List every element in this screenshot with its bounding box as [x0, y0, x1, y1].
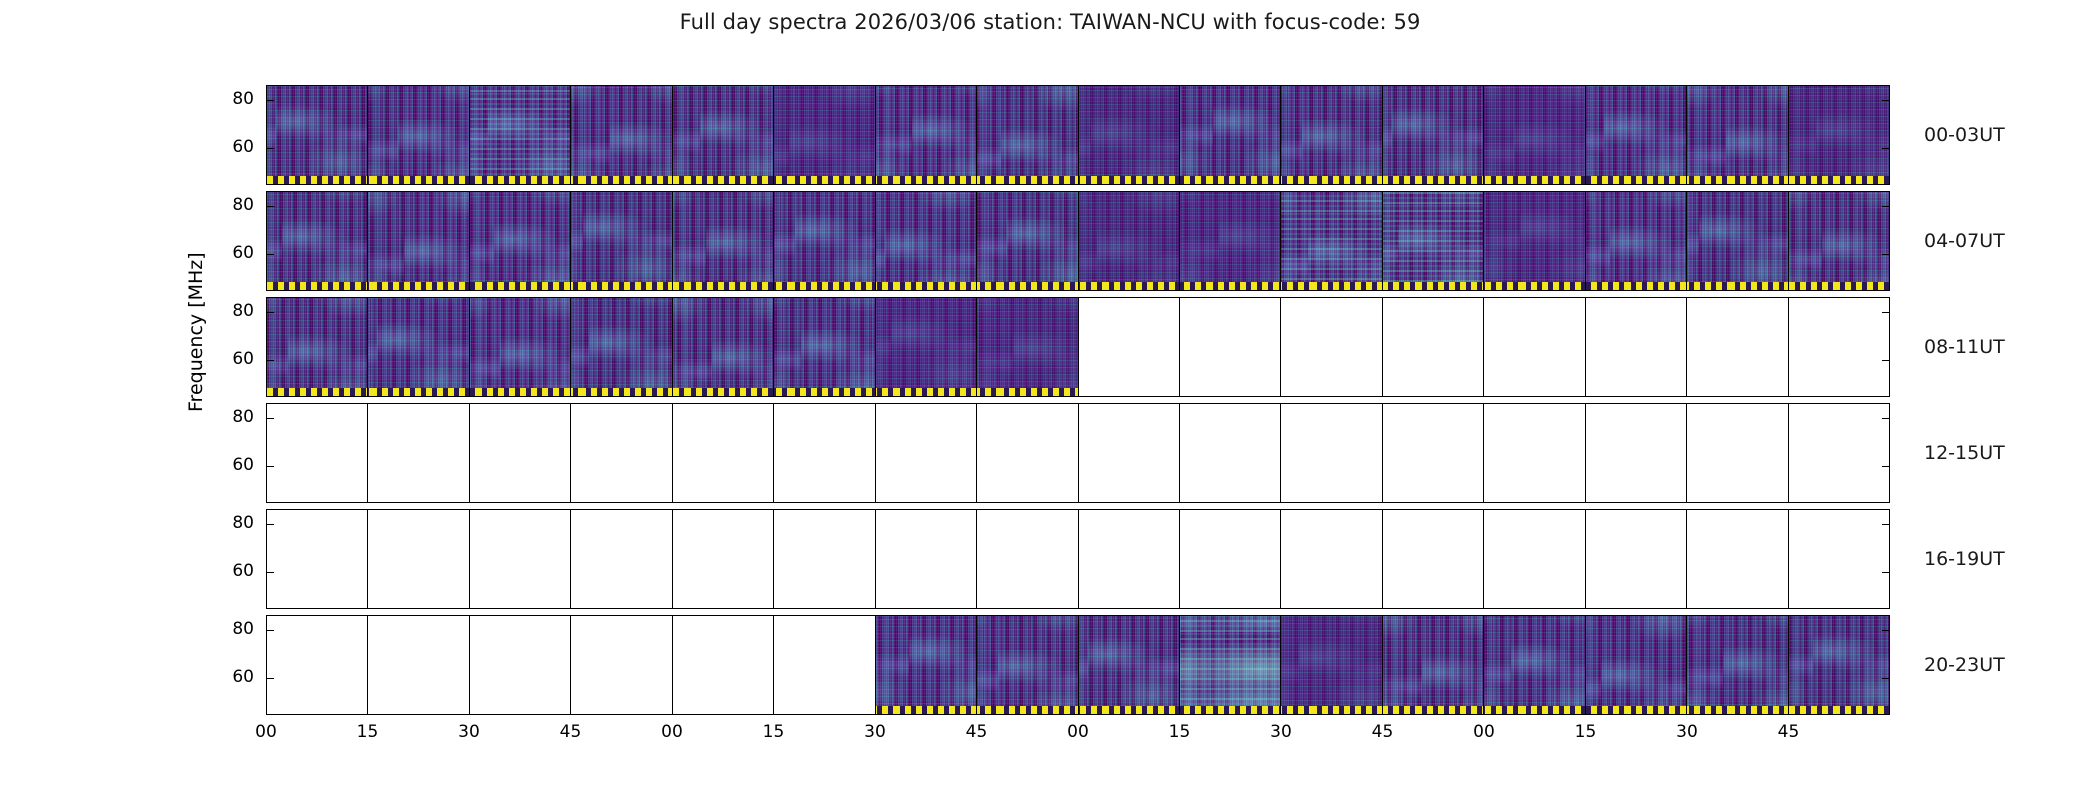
spectrogram-image: [977, 298, 1077, 396]
texture-layer: [1281, 192, 1381, 290]
time-coverage-strip: [673, 176, 773, 184]
spectrogram-panel[interactable]: [1180, 404, 1281, 502]
texture-layer: [1586, 86, 1686, 184]
y-axis-tick: [267, 678, 274, 679]
spectrogram-image: [1079, 616, 1179, 714]
y-axis-tick: [1882, 524, 1889, 525]
time-coverage-strip: [571, 388, 671, 396]
spectrogram-panel[interactable]: [673, 510, 774, 608]
x-axis-tick-label: 45: [966, 722, 988, 742]
spectrogram-panel[interactable]: [1281, 192, 1382, 290]
texture-layer: [1687, 192, 1787, 290]
time-coverage-strip: [1383, 282, 1483, 290]
time-coverage-strip: [1281, 282, 1381, 290]
texture-layer: [774, 298, 874, 396]
texture-layer: [774, 192, 874, 290]
time-coverage-strip: [267, 282, 367, 290]
texture-layer: [673, 192, 773, 290]
time-coverage-strip: [876, 388, 976, 396]
texture-layer: [1281, 86, 1381, 184]
texture-layer: [267, 86, 367, 184]
spectrogram-panel[interactable]: [1180, 510, 1281, 608]
time-coverage-strip: [1586, 176, 1686, 184]
spectrogram-panel[interactable]: [1586, 298, 1687, 396]
spectrogram-panel[interactable]: [977, 192, 1078, 290]
texture-layer: [1281, 616, 1381, 714]
spectrogram-panel[interactable]: [368, 86, 469, 184]
y-axis-tick: [267, 206, 274, 207]
spectrogram-panel[interactable]: [1383, 298, 1484, 396]
spectrogram-panel[interactable]: [1789, 298, 1889, 396]
spectrogram-image: [267, 86, 367, 184]
time-coverage-strip: [1484, 282, 1584, 290]
spectrogram-panel[interactable]: [470, 192, 571, 290]
x-axis-tick-labels: 00153045001530450015304500153045: [266, 722, 1890, 746]
time-coverage-strip: [876, 282, 976, 290]
spectrogram-panel[interactable]: [1687, 404, 1788, 502]
spectrogram-panel[interactable]: [1687, 192, 1788, 290]
x-axis-tick-label: 30: [1676, 722, 1698, 742]
spectrogram-panel[interactable]: [876, 510, 977, 608]
spectrogram-image: [1180, 86, 1280, 184]
time-coverage-strip: [1180, 282, 1280, 290]
spectrogram-panel[interactable]: [368, 616, 469, 714]
x-axis-tick-label: 15: [1575, 722, 1597, 742]
spectrogram-panel[interactable]: [1687, 298, 1788, 396]
time-coverage-strip: [1484, 176, 1584, 184]
spectrogram-panel[interactable]: [1484, 298, 1585, 396]
spectrogram-image: [977, 86, 1077, 184]
texture-layer: [1687, 616, 1787, 714]
spectrogram-panel[interactable]: [1383, 510, 1484, 608]
spectrogram-panel[interactable]: [368, 404, 469, 502]
texture-layer: [1383, 192, 1483, 290]
spectrogram-panel[interactable]: [1383, 616, 1484, 714]
spectrogram-image: [876, 86, 976, 184]
y-axis-tick-label: 80: [232, 619, 254, 639]
spectrogram-panel[interactable]: [673, 86, 774, 184]
y-axis-label: Frequency [MHz]: [185, 388, 207, 412]
spectrogram-panel[interactable]: [470, 404, 571, 502]
spectrogram-panel[interactable]: [1180, 192, 1281, 290]
y-axis-tick: [267, 466, 274, 467]
texture-layer: [876, 298, 976, 396]
plot-area: [266, 85, 1890, 715]
time-coverage-strip: [1484, 706, 1584, 714]
spectrogram-image: [1079, 192, 1179, 290]
y-axis-tick: [1882, 630, 1889, 631]
spectrogram-panel[interactable]: [1586, 192, 1687, 290]
row-label-00-03ut: 00-03UT: [1924, 124, 2005, 146]
spectrogram-image: [368, 192, 468, 290]
y-axis-tick: [267, 254, 274, 255]
texture-layer: [470, 298, 570, 396]
spectrogram-panel[interactable]: [267, 298, 368, 396]
spectrogram-panel[interactable]: [774, 404, 875, 502]
y-axis-tick: [1882, 466, 1889, 467]
row-label-08-11ut: 08-11UT: [1924, 336, 2005, 358]
spectrogram-image: [1484, 86, 1584, 184]
spectrogram-panel[interactable]: [1079, 298, 1180, 396]
spectrogram-panel[interactable]: [1484, 616, 1585, 714]
spectrogram-panel[interactable]: [1586, 404, 1687, 502]
time-coverage-strip: [1281, 706, 1381, 714]
spectrogram-image: [1586, 86, 1686, 184]
time-coverage-strip: [1789, 282, 1889, 290]
spectrogram-panel[interactable]: [673, 298, 774, 396]
spectrogram-panel[interactable]: [977, 86, 1078, 184]
spectrogram-panel[interactable]: [1383, 192, 1484, 290]
spectrogram-panel[interactable]: [1180, 298, 1281, 396]
spectrogram-panel[interactable]: [1789, 192, 1889, 290]
spectrogram-image: [1383, 616, 1483, 714]
time-coverage-strip: [673, 282, 773, 290]
spectrogram-panel[interactable]: [1079, 510, 1180, 608]
time-coverage-strip: [368, 388, 468, 396]
spectrogram-panel[interactable]: [470, 616, 571, 714]
spectrogram-image: [1687, 616, 1787, 714]
spectrogram-panel[interactable]: [1687, 616, 1788, 714]
texture-layer: [977, 192, 1077, 290]
time-coverage-strip: [1586, 282, 1686, 290]
spectrogram-row-12-15ut[interactable]: [266, 403, 1890, 503]
spectrogram-image: [1586, 616, 1686, 714]
spectrogram-image: [876, 298, 976, 396]
spectrogram-panel[interactable]: [876, 192, 977, 290]
time-coverage-strip: [571, 176, 671, 184]
y-axis-tick: [267, 418, 274, 419]
spectrogram-panel[interactable]: [571, 510, 672, 608]
spectrogram-panel[interactable]: [774, 86, 875, 184]
texture-layer: [774, 86, 874, 184]
spectrogram-panel[interactable]: [267, 86, 368, 184]
panel-strip: [267, 86, 1889, 184]
texture-layer: [1180, 192, 1280, 290]
y-axis-tick-label: 80: [232, 513, 254, 533]
spectrogram-image: [1079, 86, 1179, 184]
y-axis-tick: [267, 100, 274, 101]
panel-strip: [267, 510, 1889, 608]
time-coverage-strip: [1687, 706, 1787, 714]
spectrogram-image: [876, 616, 976, 714]
texture-layer: [1789, 192, 1889, 290]
spectrogram-row-04-07ut[interactable]: [266, 191, 1890, 291]
spectrogram-panel[interactable]: [368, 510, 469, 608]
spectrogram-image: [1180, 192, 1280, 290]
spectrogram-panel[interactable]: [774, 298, 875, 396]
spectrogram-panel[interactable]: [977, 510, 1078, 608]
spectrogram-image: [1789, 616, 1889, 714]
texture-layer: [368, 192, 468, 290]
spectrogram-panel[interactable]: [368, 298, 469, 396]
texture-layer: [1586, 616, 1686, 714]
texture-layer: [1383, 616, 1483, 714]
texture-layer: [1484, 192, 1584, 290]
panel-strip: [267, 298, 1889, 396]
y-axis-tick-label: 60: [232, 561, 254, 581]
spectrogram-image: [267, 192, 367, 290]
time-coverage-strip: [1383, 706, 1483, 714]
spectrogram-row-00-03ut[interactable]: [266, 85, 1890, 185]
spectrogram-panel[interactable]: [571, 616, 672, 714]
spectrogram-panel[interactable]: [876, 86, 977, 184]
spectrogram-image: [1281, 192, 1381, 290]
spectrogram-panel[interactable]: [267, 404, 368, 502]
time-coverage-strip: [1180, 176, 1280, 184]
spectrogram-image: [1687, 192, 1787, 290]
spectrogram-panel[interactable]: [1687, 510, 1788, 608]
spectrogram-panel[interactable]: [1484, 86, 1585, 184]
spectrogram-panel[interactable]: [1789, 616, 1889, 714]
texture-layer: [876, 86, 976, 184]
time-coverage-strip: [977, 388, 1077, 396]
y-axis-tick: [1882, 418, 1889, 419]
spectrogram-image: [673, 86, 773, 184]
texture-layer: [571, 192, 671, 290]
spectrogram-panel[interactable]: [1079, 616, 1180, 714]
x-axis-tick-label: 45: [1372, 722, 1394, 742]
time-coverage-strip: [876, 706, 976, 714]
spectrogram-image: [368, 86, 468, 184]
spectrogram-image: [1586, 192, 1686, 290]
spectrogram-panel[interactable]: [1079, 404, 1180, 502]
x-axis-tick-label: 30: [458, 722, 480, 742]
texture-layer: [1180, 86, 1280, 184]
spectrogram-panel[interactable]: [470, 298, 571, 396]
texture-layer: [876, 192, 976, 290]
y-axis-tick: [1882, 360, 1889, 361]
time-coverage-strip: [571, 282, 671, 290]
spectrogram-row-16-19ut[interactable]: [266, 509, 1890, 609]
time-coverage-strip: [673, 388, 773, 396]
x-axis-tick-label: 00: [1067, 722, 1089, 742]
spectrogram-panel[interactable]: [673, 192, 774, 290]
spectrogram-image: [774, 192, 874, 290]
texture-layer: [571, 86, 671, 184]
time-coverage-strip: [1687, 176, 1787, 184]
spectrogram-panel[interactable]: [1281, 404, 1382, 502]
spectrogram-image: [571, 298, 671, 396]
spectrogram-panel[interactable]: [876, 616, 977, 714]
spectrogram-panel[interactable]: [1383, 86, 1484, 184]
x-axis-tick-label: 15: [357, 722, 379, 742]
time-coverage-strip: [368, 176, 468, 184]
spectrogram-image: [1180, 616, 1280, 714]
spectrogram-panel[interactable]: [571, 86, 672, 184]
texture-layer: [977, 298, 1077, 396]
spectrogram-panel[interactable]: [1586, 510, 1687, 608]
spectrogram-panel[interactable]: [368, 192, 469, 290]
y-axis-tick-label: 80: [232, 301, 254, 321]
spectrogram-panel[interactable]: [1383, 404, 1484, 502]
texture-layer: [977, 616, 1077, 714]
row-label-04-07ut: 04-07UT: [1924, 230, 2005, 252]
spectrogram-panel[interactable]: [774, 616, 875, 714]
time-coverage-strip: [977, 706, 1077, 714]
texture-layer: [1484, 616, 1584, 714]
spectrogram-row-08-11ut[interactable]: [266, 297, 1890, 397]
texture-layer: [368, 86, 468, 184]
panel-strip: [267, 404, 1889, 502]
spectrogram-image: [1789, 192, 1889, 290]
y-axis-tick: [1882, 572, 1889, 573]
time-coverage-strip: [1789, 176, 1889, 184]
y-axis-tick: [267, 312, 274, 313]
spectrogram-panel[interactable]: [1586, 86, 1687, 184]
time-coverage-strip: [368, 282, 468, 290]
x-axis-tick-label: 00: [661, 722, 683, 742]
y-axis-tick-label: 60: [232, 455, 254, 475]
spectrogram-panel[interactable]: [470, 510, 571, 608]
x-axis-tick-label: 00: [255, 722, 277, 742]
time-coverage-strip: [774, 176, 874, 184]
texture-layer: [876, 616, 976, 714]
y-axis-tick: [1882, 312, 1889, 313]
time-coverage-strip: [774, 282, 874, 290]
panel-strip: [267, 192, 1889, 290]
spectrogram-panel[interactable]: [1281, 510, 1382, 608]
spectrogram-panel[interactable]: [1180, 86, 1281, 184]
spectrogram-image: [470, 192, 570, 290]
time-coverage-strip: [1687, 282, 1787, 290]
spectrogram-panel[interactable]: [876, 404, 977, 502]
texture-layer: [1180, 616, 1280, 714]
spectrogram-image: [1789, 86, 1889, 184]
spectrogram-panel[interactable]: [470, 86, 571, 184]
spectrogram-image: [977, 192, 1077, 290]
y-axis-tick: [267, 572, 274, 573]
texture-layer: [1789, 616, 1889, 714]
texture-layer: [368, 298, 468, 396]
spectrogram-panel[interactable]: [1687, 86, 1788, 184]
time-coverage-strip: [977, 282, 1077, 290]
spectrogram-row-20-23ut[interactable]: [266, 615, 1890, 715]
spectrogram-image: [1383, 192, 1483, 290]
spectrogram-panel[interactable]: [774, 192, 875, 290]
spectrogram-panel[interactable]: [1484, 404, 1585, 502]
spectrogram-image: [876, 192, 976, 290]
texture-layer: [673, 86, 773, 184]
time-coverage-strip: [267, 176, 367, 184]
texture-layer: [977, 86, 1077, 184]
texture-layer: [470, 192, 570, 290]
x-axis-tick-label: 15: [763, 722, 785, 742]
spectrogram-image: [470, 298, 570, 396]
time-coverage-strip: [470, 176, 570, 184]
time-coverage-strip: [1079, 282, 1179, 290]
spectrogram-panel[interactable]: [1789, 510, 1889, 608]
y-axis-tick-label: 80: [232, 407, 254, 427]
spectrogram-image: [1484, 192, 1584, 290]
y-axis-tick: [267, 524, 274, 525]
y-axis-tick-label: 80: [232, 89, 254, 109]
spectrogram-panel[interactable]: [774, 510, 875, 608]
y-axis-tick: [267, 360, 274, 361]
texture-layer: [1079, 192, 1179, 290]
spectrogram-image: [368, 298, 468, 396]
spectrogram-panel[interactable]: [1281, 298, 1382, 396]
texture-layer: [1383, 86, 1483, 184]
spectrogram-image: [470, 86, 570, 184]
texture-layer: [1079, 86, 1179, 184]
spectrogram-image: [267, 298, 367, 396]
texture-layer: [470, 86, 570, 184]
y-axis-tick: [267, 148, 274, 149]
time-coverage-strip: [267, 388, 367, 396]
spectrogram-panel[interactable]: [673, 404, 774, 502]
texture-layer: [1079, 616, 1179, 714]
time-coverage-strip: [1586, 706, 1686, 714]
spectrogram-panel[interactable]: [977, 298, 1078, 396]
time-coverage-strip: [1383, 176, 1483, 184]
spectrogram-panel[interactable]: [571, 298, 672, 396]
spectrogram-panel[interactable]: [876, 298, 977, 396]
page-title: Full day spectra 2026/03/06 station: TAI…: [0, 10, 2100, 34]
texture-layer: [1586, 192, 1686, 290]
spectrogram-image: [774, 298, 874, 396]
y-axis-tick: [267, 630, 274, 631]
spectrogram-panel[interactable]: [571, 192, 672, 290]
time-coverage-strip: [470, 282, 570, 290]
spectrogram-panel[interactable]: [977, 616, 1078, 714]
spectrogram-image: [1484, 616, 1584, 714]
spectrogram-panel[interactable]: [571, 404, 672, 502]
time-coverage-strip: [1180, 706, 1280, 714]
spectrogram-image: [571, 86, 671, 184]
spectrogram-panel[interactable]: [1484, 510, 1585, 608]
spectrogram-panel[interactable]: [673, 616, 774, 714]
row-label-12-15ut: 12-15UT: [1924, 442, 2005, 464]
y-axis-tick-label: 60: [232, 349, 254, 369]
spectrogram-panel[interactable]: [1281, 616, 1382, 714]
spectrogram-image: [1383, 86, 1483, 184]
y-axis-tick-label: 60: [232, 667, 254, 687]
x-axis-tick-label: 45: [560, 722, 582, 742]
spectrogram-figure: Full day spectra 2026/03/06 station: TAI…: [0, 0, 2100, 800]
y-axis-tick: [1882, 254, 1889, 255]
spectrogram-panel[interactable]: [977, 404, 1078, 502]
spectrogram-image: [1281, 616, 1381, 714]
x-axis-tick-label: 15: [1169, 722, 1191, 742]
x-axis-tick-label: 45: [1778, 722, 1800, 742]
spectrogram-image: [977, 616, 1077, 714]
spectrogram-panel[interactable]: [1079, 86, 1180, 184]
spectrogram-panel[interactable]: [1586, 616, 1687, 714]
spectrogram-panel[interactable]: [1180, 616, 1281, 714]
spectrogram-image: [571, 192, 671, 290]
y-axis-tick-label: 80: [232, 195, 254, 215]
texture-layer: [673, 298, 773, 396]
spectrogram-panel[interactable]: [267, 192, 368, 290]
y-axis-tick-label: 60: [232, 243, 254, 263]
spectrogram-panel[interactable]: [1281, 86, 1382, 184]
y-axis-tick: [1882, 148, 1889, 149]
y-axis-tick: [1882, 206, 1889, 207]
spectrogram-image: [774, 86, 874, 184]
spectrogram-panel[interactable]: [267, 616, 368, 714]
x-axis-tick-label: 00: [1473, 722, 1495, 742]
spectrogram-image: [673, 192, 773, 290]
spectrogram-panel[interactable]: [1789, 404, 1889, 502]
texture-layer: [571, 298, 671, 396]
spectrogram-panel[interactable]: [1484, 192, 1585, 290]
y-axis-tick: [1882, 678, 1889, 679]
spectrogram-panel[interactable]: [1079, 192, 1180, 290]
spectrogram-panel[interactable]: [267, 510, 368, 608]
spectrogram-image: [1281, 86, 1381, 184]
spectrogram-panel[interactable]: [1789, 86, 1889, 184]
texture-layer: [1484, 86, 1584, 184]
